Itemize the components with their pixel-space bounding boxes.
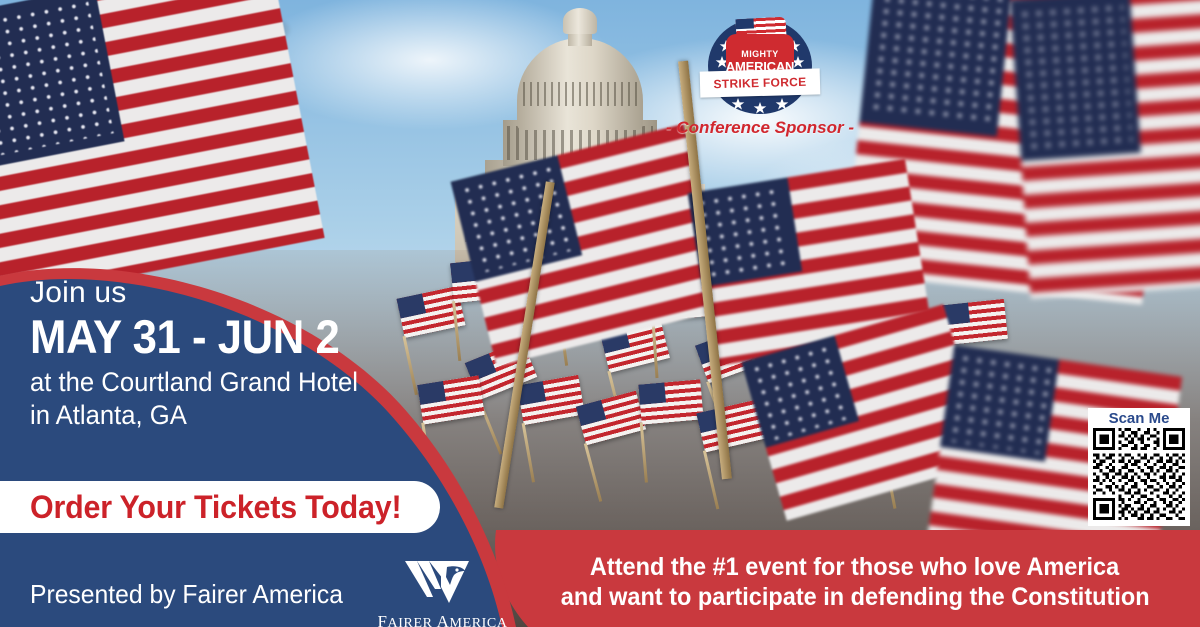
venue-line-2: in Atlanta, GA — [30, 399, 496, 432]
bottom-banner-line1: Attend the #1 event for those who love A… — [590, 552, 1119, 583]
qr-code-icon[interactable] — [1093, 428, 1185, 520]
panel-content: Join us MAY 31 - JUN 2 at the Courtland … — [0, 252, 520, 627]
strike-force-ribbon: STRIKE FORCE — [700, 68, 821, 97]
event-dates: MAY 31 - JUN 2 — [30, 312, 486, 362]
ribbon-text: STRIKE FORCE — [713, 75, 806, 91]
join-label: Join us — [30, 278, 520, 308]
order-tickets-label: Order Your Tickets Today! — [30, 489, 401, 526]
venue-line-1: at the Courtland Grand Hotel — [30, 366, 496, 399]
presented-by-row: Presented by Fairer America FAIRER AMERI… — [30, 557, 489, 627]
qr-code-block[interactable]: Scan Me — [1088, 408, 1190, 526]
presented-by-label: Presented by Fairer America — [30, 579, 343, 610]
bottom-banner-line2: and want to participate in defending the… — [561, 582, 1150, 613]
fairer-america-logo: FAIRER AMERICA — [377, 557, 489, 627]
event-promo-banner: MIGHTY AMERICAN STRIKE FORCE - Conferenc… — [0, 0, 1200, 627]
conference-sponsor-logo: MIGHTY AMERICAN STRIKE FORCE - Conferenc… — [660, 8, 860, 138]
badge-line1: MIGHTY — [741, 50, 778, 59]
mighty-american-strike-force-badge: MIGHTY AMERICAN STRIKE FORCE — [700, 8, 820, 116]
order-tickets-button[interactable]: Order Your Tickets Today! — [0, 481, 440, 533]
bottom-banner-text: Attend the #1 event for those who love A… — [510, 536, 1200, 627]
fairer-america-eagle-icon — [377, 557, 489, 611]
sponsor-caption: - Conference Sponsor - — [660, 118, 860, 138]
american-flag-far-right — [1010, 0, 1200, 299]
fairer-america-wordmark: FAIRER AMERICA — [377, 612, 489, 627]
qr-label: Scan Me — [1109, 411, 1170, 428]
